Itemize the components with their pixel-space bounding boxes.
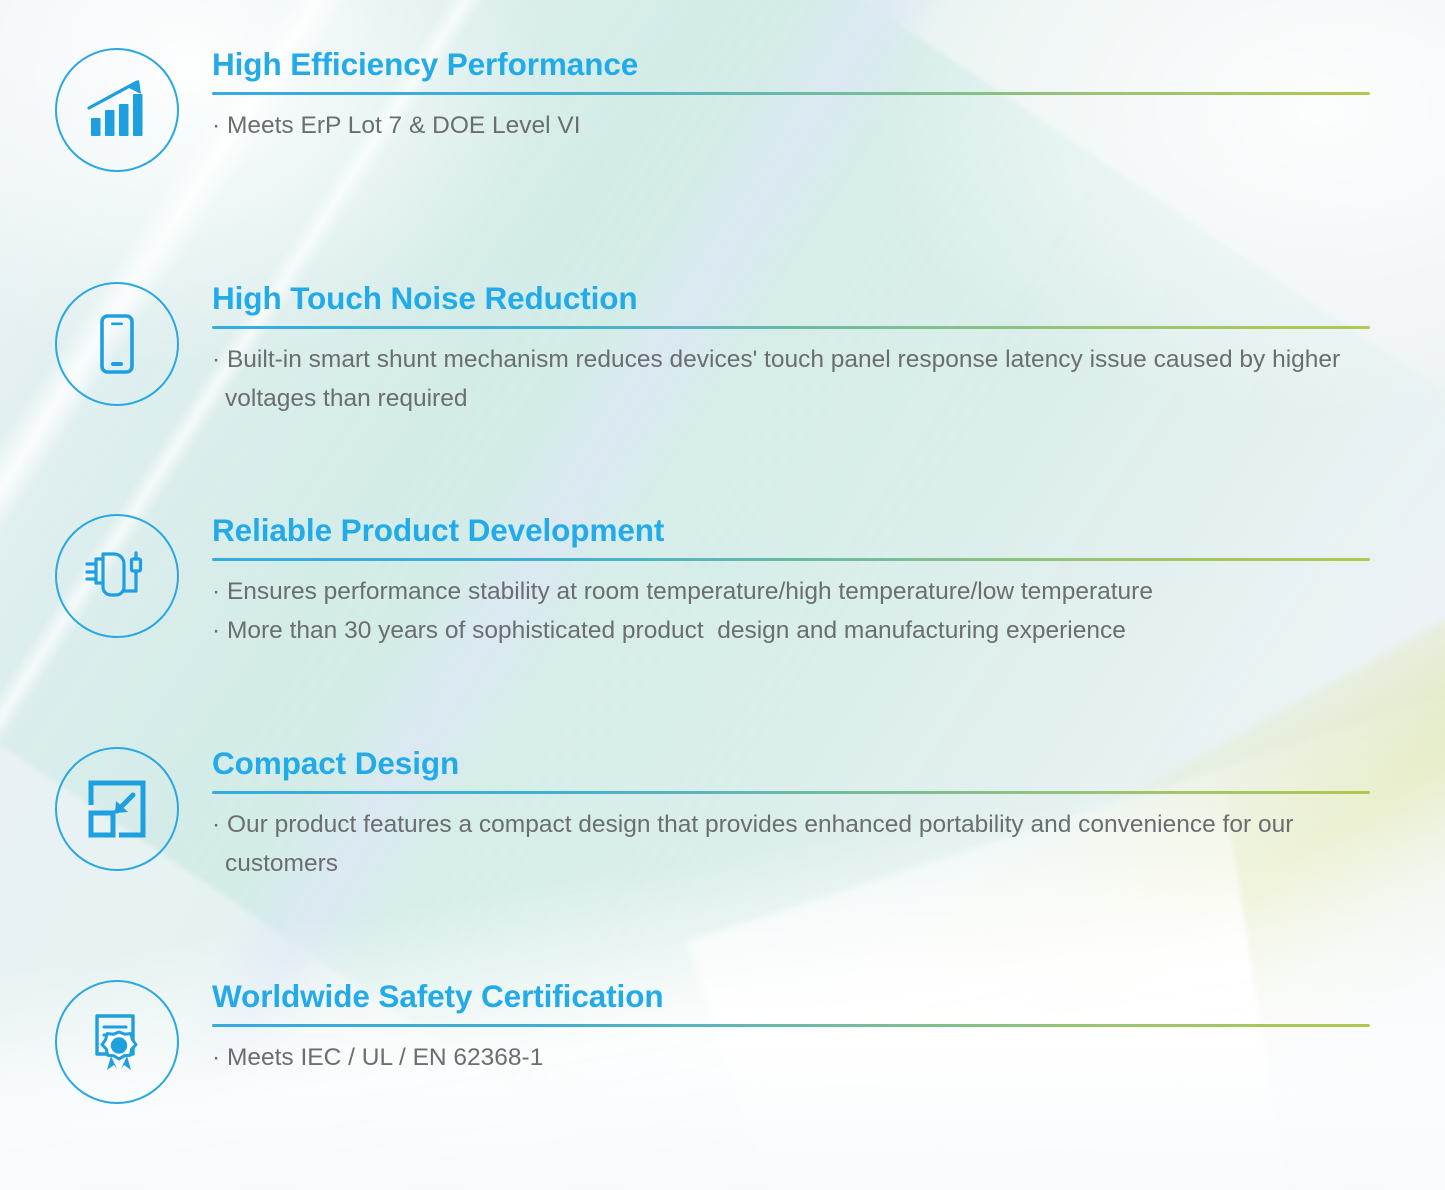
feature-item-worldwide-safety-certification: Worldwide Safety Certification · Meets I… (0, 978, 1445, 1104)
feature-title: Reliable Product Development (212, 512, 1370, 548)
feature-divider (212, 92, 1370, 95)
feature-bullet-list: · Ensures performance stability at room … (212, 573, 1370, 650)
feature-title: High Efficiency Performance (212, 46, 1370, 82)
feature-text-block: High Touch Noise Reduction · Built-in sm… (212, 280, 1445, 419)
power-adapter-icon (55, 514, 179, 638)
feature-title: High Touch Noise Reduction (212, 280, 1370, 316)
feature-divider (212, 791, 1370, 794)
feature-item-compact-design: Compact Design · Our product features a … (0, 745, 1445, 884)
feature-divider (212, 326, 1370, 329)
compact-resize-icon (55, 747, 179, 871)
feature-divider (212, 558, 1370, 561)
feature-text-block: Worldwide Safety Certification · Meets I… (212, 978, 1445, 1078)
feature-text-block: Compact Design · Our product features a … (212, 745, 1445, 884)
certificate-award-icon (55, 980, 179, 1104)
feature-bullet: · Ensures performance stability at room … (212, 573, 1370, 612)
feature-icon-wrapper (52, 280, 182, 406)
feature-bullet: · Built-in smart shunt mechanism reduces… (212, 341, 1370, 418)
feature-divider (212, 1024, 1370, 1027)
feature-text-block: High Efficiency Performance · Meets ErP … (212, 46, 1445, 146)
feature-item-high-touch-noise-reduction: High Touch Noise Reduction · Built-in sm… (0, 280, 1445, 419)
feature-title: Worldwide Safety Certification (212, 978, 1370, 1014)
feature-icon-wrapper (52, 745, 182, 871)
feature-bullet-list: · Meets IEC / UL / EN 62368-1 (212, 1039, 1370, 1078)
feature-title: Compact Design (212, 745, 1370, 781)
feature-icon-wrapper (52, 512, 182, 638)
feature-bullet: · Our product features a compact design … (212, 806, 1370, 883)
smartphone-icon (55, 282, 179, 406)
feature-bullet-list: · Built-in smart shunt mechanism reduces… (212, 341, 1370, 418)
bar-chart-growth-icon (55, 48, 179, 172)
feature-item-high-efficiency-performance: High Efficiency Performance · Meets ErP … (0, 46, 1445, 172)
feature-icon-wrapper (52, 46, 182, 172)
feature-bullet-list: · Meets ErP Lot 7 & DOE Level VI (212, 107, 1370, 146)
feature-bullet-list: · Our product features a compact design … (212, 806, 1370, 883)
feature-icon-wrapper (52, 978, 182, 1104)
feature-bullet: · More than 30 years of sophisticated pr… (212, 612, 1370, 651)
feature-bullet: · Meets ErP Lot 7 & DOE Level VI (212, 107, 1370, 146)
feature-item-reliable-product-development: Reliable Product Development · Ensures p… (0, 512, 1445, 651)
feature-text-block: Reliable Product Development · Ensures p… (212, 512, 1445, 651)
feature-bullet: · Meets IEC / UL / EN 62368-1 (212, 1039, 1370, 1078)
